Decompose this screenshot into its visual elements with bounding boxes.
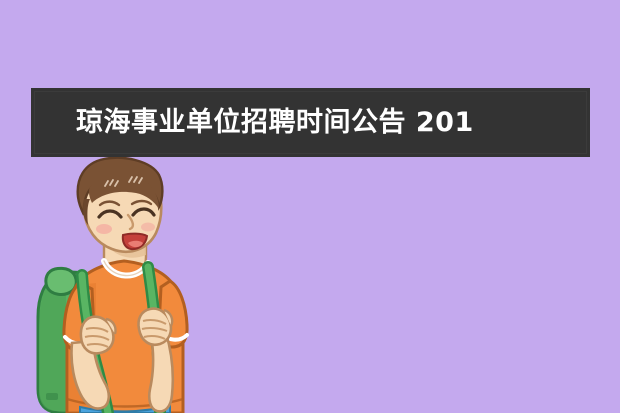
student-illustration: [20, 157, 220, 413]
title-banner: 琼海事业单位招聘时间公告 201: [31, 88, 590, 157]
poster-canvas: 琼海事业单位招聘时间公告 201: [0, 0, 620, 413]
cheek-right: [141, 223, 155, 232]
page-title: 琼海事业单位招聘时间公告 201: [31, 109, 474, 136]
cheek-left: [96, 224, 112, 234]
head: [78, 158, 163, 252]
